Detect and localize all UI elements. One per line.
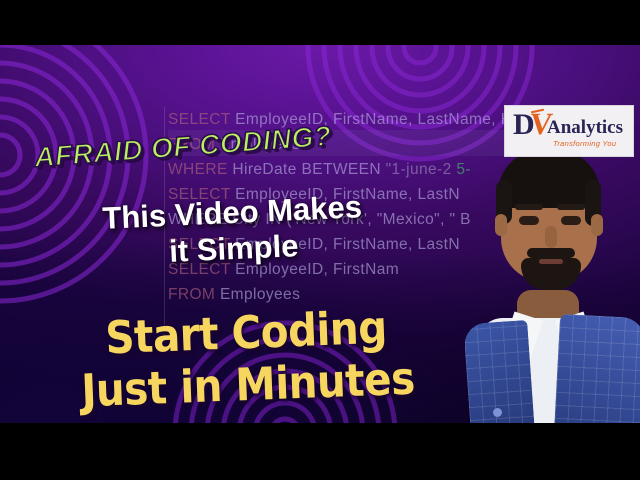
sql-token: HireDate BETWEEN [228, 161, 386, 178]
presenter-vest-left [465, 320, 535, 423]
headline-yellow: Start Coding Just in Minutes [70, 300, 424, 417]
presenter-nose [545, 226, 557, 248]
video-thumbnail-frame: SELECT EmployeeID, FirstName, LastName, … [0, 0, 640, 480]
thumbnail-stage: SELECT EmployeeID, FirstName, LastName, … [0, 45, 640, 423]
logo-tagline: Transforming You [553, 139, 616, 148]
presenter-ear-left [495, 214, 507, 236]
presenter-eyebrow-right [557, 204, 585, 210]
presenter-eyebrow-left [515, 204, 543, 210]
dv-analytics-logo[interactable]: D V Analytics Transforming You [504, 105, 634, 157]
presenter-mouth [539, 259, 563, 264]
sql-token: Employees [215, 286, 300, 303]
sql-token: "1-june-2 [386, 161, 452, 178]
letterbox-bar-bottom [0, 423, 640, 480]
sql-token: WHERE [168, 161, 228, 178]
presenter-eye-right [561, 216, 581, 225]
presenter-moustache [527, 248, 575, 258]
letterbox-bar-top [0, 0, 640, 45]
presenter-vest-right [554, 314, 640, 423]
sql-token: SELECT [168, 111, 230, 128]
logo-word-analytics: Analytics [547, 118, 623, 137]
presenter-eye-left [519, 216, 539, 225]
presenter-vest-button [493, 408, 502, 417]
presenter-photo [465, 140, 640, 423]
presenter-ear-right [591, 214, 603, 236]
sql-token: FROM [168, 286, 215, 303]
